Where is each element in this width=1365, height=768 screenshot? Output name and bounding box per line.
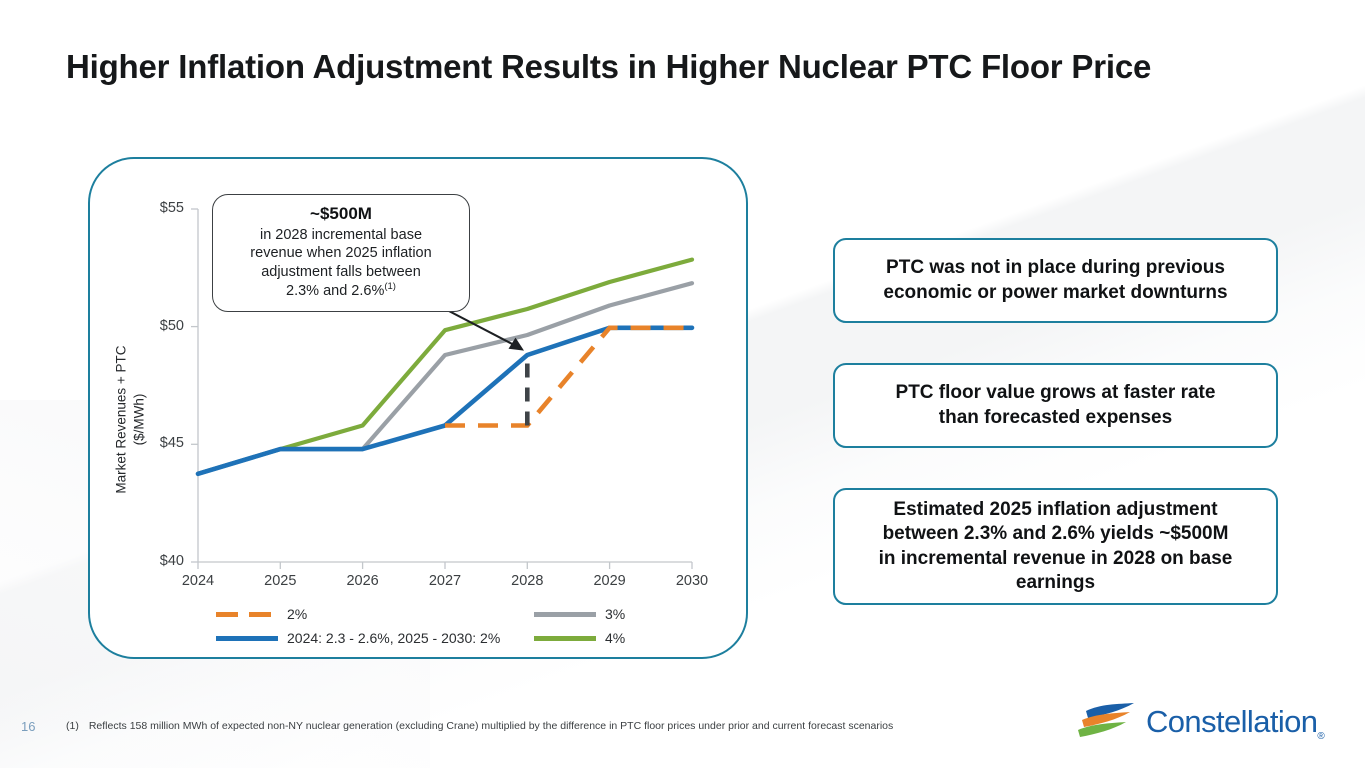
y-tick-label-45: $45: [138, 435, 184, 451]
legend-item-blend[interactable]: 2024: 2.3 - 2.6%, 2025 - 2030: 2%: [216, 630, 534, 646]
footnote-text: Reflects 158 million MWh of expected non…: [89, 720, 893, 732]
constellation-logo: Constellation®: [1078, 698, 1346, 748]
registered-trademark-icon: ®: [1317, 731, 1324, 742]
legend-item-4pct[interactable]: 4%: [534, 630, 684, 646]
y-axis-title: Market Revenues + PTC ($/MWh): [112, 320, 147, 520]
callout-1-line-1: PTC floor value grows at faster rate: [896, 382, 1216, 403]
callout-2-line-4: earnings: [1016, 572, 1095, 593]
callout-0-line-2: economic or power market downturns: [883, 282, 1227, 303]
annotation-line-3: adjustment falls between: [261, 264, 421, 280]
legend-label-blend: 2024: 2.3 - 2.6%, 2025 - 2030: 2%: [287, 630, 500, 646]
callout-2-line-3: in incremental revenue in 2028 on base: [879, 548, 1233, 569]
x-tick-label-2027: 2027: [410, 573, 480, 589]
page-title: Higher Inflation Adjustment Results in H…: [66, 48, 1306, 86]
y-tick-label-50: $50: [138, 318, 184, 334]
legend-item-3pct[interactable]: 3%: [534, 606, 684, 622]
chart-area: ~$500M in 2028 incremental base revenue …: [90, 159, 750, 661]
constellation-swoosh-icon: [1078, 702, 1140, 744]
annotation-headline: ~$500M: [223, 204, 459, 224]
legend-row-bottom: 2024: 2.3 - 2.6%, 2025 - 2030: 2% 4%: [216, 626, 736, 650]
callout-floor-value-growth: PTC floor value grows at faster rate tha…: [833, 363, 1278, 448]
page-number: 16: [21, 719, 35, 734]
callout-2-line-1: Estimated 2025 inflation adjustment: [893, 499, 1217, 520]
x-tick-label-2030: 2030: [657, 573, 727, 589]
logo-wordmark-text: Constellation: [1146, 704, 1317, 739]
x-tick-label-2028: 2028: [492, 573, 562, 589]
legend-swatch-4pct: [534, 632, 596, 645]
annotation-footnote-marker: (1): [384, 281, 396, 292]
footnote-marker: (1): [66, 720, 79, 732]
callout-ptc-not-in-place: PTC was not in place during previous eco…: [833, 238, 1278, 323]
x-axis-ticks: [198, 562, 692, 569]
legend-label-2pct: 2%: [287, 606, 307, 622]
callout-estimated-inflation-adjustment: Estimated 2025 inflation adjustment betw…: [833, 488, 1278, 605]
callout-1-line-2: than forecasted expenses: [939, 407, 1172, 428]
chart-legend: 2% 3% 2024: 2.3 - 2.6%, 2025 - 2: [216, 602, 736, 650]
x-tick-label-2026: 2026: [328, 573, 398, 589]
legend-item-2pct[interactable]: 2%: [216, 606, 534, 622]
chart-annotation-callout: ~$500M in 2028 incremental base revenue …: [212, 194, 470, 312]
callout-0-line-1: PTC was not in place during previous: [886, 257, 1225, 278]
footnote: (1)Reflects 158 million MWh of expected …: [66, 720, 893, 732]
legend-swatch-2pct: [216, 608, 278, 621]
legend-swatch-blend: [216, 632, 278, 645]
legend-label-4pct: 4%: [605, 630, 625, 646]
x-tick-label-2029: 2029: [575, 573, 645, 589]
annotation-line-2: revenue when 2025 inflation: [250, 245, 431, 261]
annotation-line-1: in 2028 incremental base: [260, 227, 422, 243]
y-axis-title-line1: Market Revenues + PTC: [113, 345, 128, 493]
chart-panel: ~$500M in 2028 incremental base revenue …: [88, 157, 748, 659]
x-tick-label-2025: 2025: [245, 573, 315, 589]
legend-row-top: 2% 3%: [216, 602, 736, 626]
callout-2-line-2: between 2.3% and 2.6% yields ~$500M: [883, 523, 1229, 544]
legend-swatch-3pct: [534, 608, 596, 621]
annotation-line-4: 2.3% and 2.6%: [286, 283, 384, 299]
logo-wordmark: Constellation®: [1146, 704, 1324, 742]
slide-root: Higher Inflation Adjustment Results in H…: [0, 0, 1365, 768]
y-axis-ticks: [191, 209, 198, 562]
series-line-blend: [198, 328, 692, 474]
y-tick-label-40: $40: [138, 553, 184, 569]
y-tick-label-55: $55: [138, 200, 184, 216]
legend-label-3pct: 3%: [605, 606, 625, 622]
x-tick-label-2024: 2024: [163, 573, 233, 589]
